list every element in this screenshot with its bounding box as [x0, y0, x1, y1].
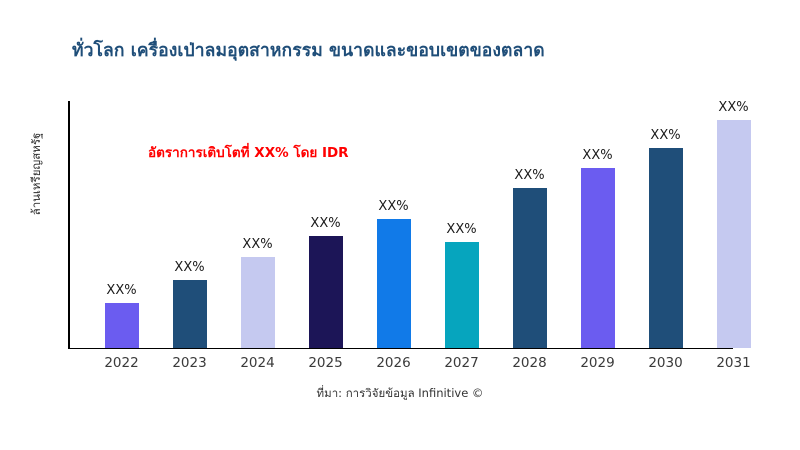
- x-tick-2022: 2022: [104, 355, 138, 371]
- bars-layer: XX%2022XX%2023XX%2024XX%2025XX%2026XX%20…: [0, 0, 800, 450]
- x-tick-2027: 2027: [444, 355, 478, 371]
- bar-2024[interactable]: [241, 257, 275, 348]
- bar-2025[interactable]: [309, 236, 343, 348]
- x-tick-2025: 2025: [308, 355, 342, 371]
- bar-group: XX%2030: [649, 0, 683, 450]
- bar-value-label: XX%: [718, 100, 748, 115]
- bar-group: XX%2029: [581, 0, 615, 450]
- x-tick-2026: 2026: [376, 355, 410, 371]
- x-tick-2024: 2024: [240, 355, 274, 371]
- x-tick-2031: 2031: [716, 355, 750, 371]
- chart-container: ทั่วโลก เครื่องเป่าลมอุตสาหกรรม ขนาดและข…: [0, 0, 800, 450]
- bar-value-label: XX%: [242, 237, 272, 252]
- bar-group: XX%2026: [377, 0, 411, 450]
- bar-group: XX%2024: [241, 0, 275, 450]
- x-tick-2029: 2029: [580, 355, 614, 371]
- bar-value-label: XX%: [650, 128, 680, 143]
- bar-value-label: XX%: [582, 148, 612, 163]
- bar-value-label: XX%: [174, 260, 204, 275]
- x-tick-2030: 2030: [648, 355, 682, 371]
- bar-group: XX%2031: [717, 0, 751, 450]
- bar-group: XX%2022: [105, 0, 139, 450]
- bar-value-label: XX%: [378, 199, 408, 214]
- bar-group: XX%2025: [309, 0, 343, 450]
- bar-value-label: XX%: [106, 283, 136, 298]
- bar-2027[interactable]: [445, 242, 479, 348]
- bar-2029[interactable]: [581, 168, 615, 348]
- source-note: ที่มา: การวิจัยข้อมูล Infinitive ©: [0, 385, 800, 403]
- bar-group: XX%2023: [173, 0, 207, 450]
- bar-2026[interactable]: [377, 219, 411, 348]
- x-tick-2028: 2028: [512, 355, 546, 371]
- bar-2023[interactable]: [173, 280, 207, 348]
- bar-2030[interactable]: [649, 148, 683, 348]
- bar-2022[interactable]: [105, 303, 139, 348]
- bar-group: XX%2028: [513, 0, 547, 450]
- bar-value-label: XX%: [446, 222, 476, 237]
- bar-value-label: XX%: [310, 216, 340, 231]
- x-tick-2023: 2023: [172, 355, 206, 371]
- bar-group: XX%2027: [445, 0, 479, 450]
- bar-2031[interactable]: [717, 120, 751, 348]
- bar-value-label: XX%: [514, 168, 544, 183]
- bar-2028[interactable]: [513, 188, 547, 348]
